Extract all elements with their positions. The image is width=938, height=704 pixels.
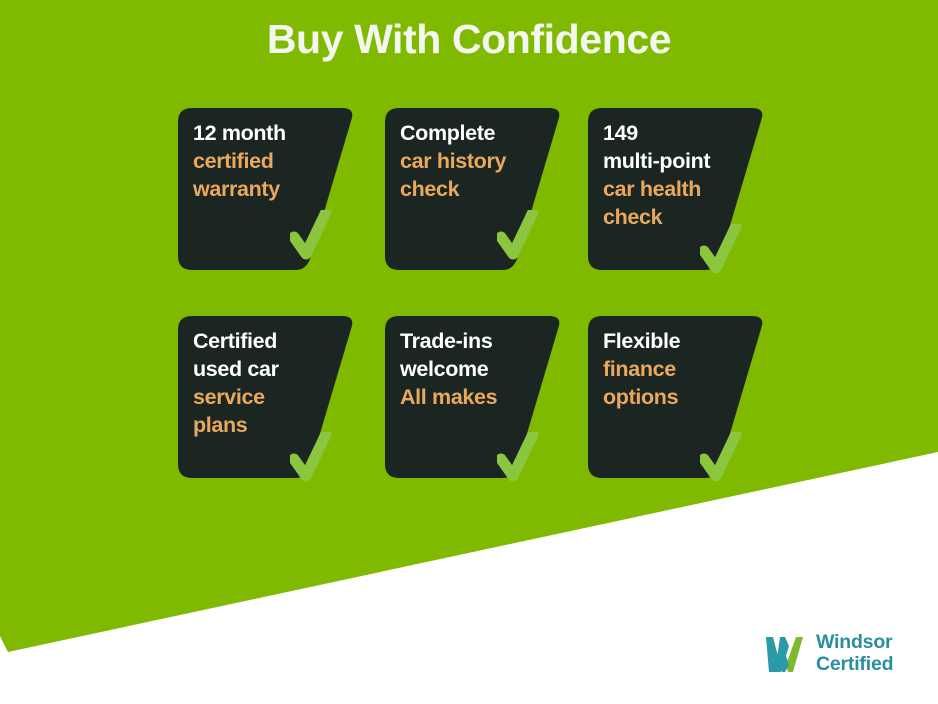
card-line-white: Complete — [400, 120, 550, 148]
feature-card-grid: 12 month certified warranty Complete car… — [178, 108, 778, 478]
card-line-orange: finance — [603, 356, 753, 384]
card-line-orange: service — [193, 384, 343, 412]
card-line-orange: check — [400, 176, 550, 204]
card-line-white: Certified — [193, 328, 343, 356]
card-line-orange: options — [603, 384, 753, 412]
card-line-orange: car health — [603, 176, 753, 204]
card-line-orange: certified — [193, 148, 343, 176]
feature-card[interactable]: 149 multi-point car health check — [588, 108, 766, 270]
check-mark-icon — [290, 210, 332, 266]
card-text-block: 12 month certified warranty — [193, 120, 343, 204]
feature-card[interactable]: Flexible finance options — [588, 316, 766, 478]
logo-line-certified: Certified — [816, 654, 893, 676]
logo-wordmark: Windsor Certified — [816, 632, 893, 676]
card-line-white: 149 — [603, 120, 753, 148]
buy-with-confidence-graphic: Buy With Confidence 12 month certified w… — [0, 0, 938, 704]
card-text-block: Certified used car service plans — [193, 328, 343, 440]
card-line-orange: All makes — [400, 384, 550, 412]
check-mark-icon — [497, 210, 539, 266]
card-text-block: Complete car history check — [400, 120, 550, 204]
check-mark-icon — [700, 224, 742, 280]
card-line-white: Flexible — [603, 328, 753, 356]
logo-line-windsor: Windsor — [816, 632, 893, 654]
card-line-white: multi-point — [603, 148, 753, 176]
card-text-block: Flexible finance options — [603, 328, 753, 412]
card-line-orange: warranty — [193, 176, 343, 204]
card-text-block: Trade-ins welcome All makes — [400, 328, 550, 412]
card-line-white: welcome — [400, 356, 550, 384]
feature-card[interactable]: 12 month certified warranty — [178, 108, 356, 270]
feature-card[interactable]: Complete car history check — [385, 108, 563, 270]
feature-card[interactable]: Certified used car service plans — [178, 316, 356, 478]
card-text-block: 149 multi-point car health check — [603, 120, 753, 232]
card-line-orange: car history — [400, 148, 550, 176]
page-title: Buy With Confidence — [0, 16, 938, 63]
card-line-white: Trade-ins — [400, 328, 550, 356]
windsor-w-mark-icon — [762, 634, 807, 674]
check-mark-icon — [700, 432, 742, 488]
windsor-certified-logo[interactable]: Windsor Certified — [762, 626, 922, 682]
card-line-white: 12 month — [193, 120, 343, 148]
check-mark-icon — [290, 432, 332, 488]
check-mark-icon — [497, 432, 539, 488]
card-line-white: used car — [193, 356, 343, 384]
feature-card[interactable]: Trade-ins welcome All makes — [385, 316, 563, 478]
